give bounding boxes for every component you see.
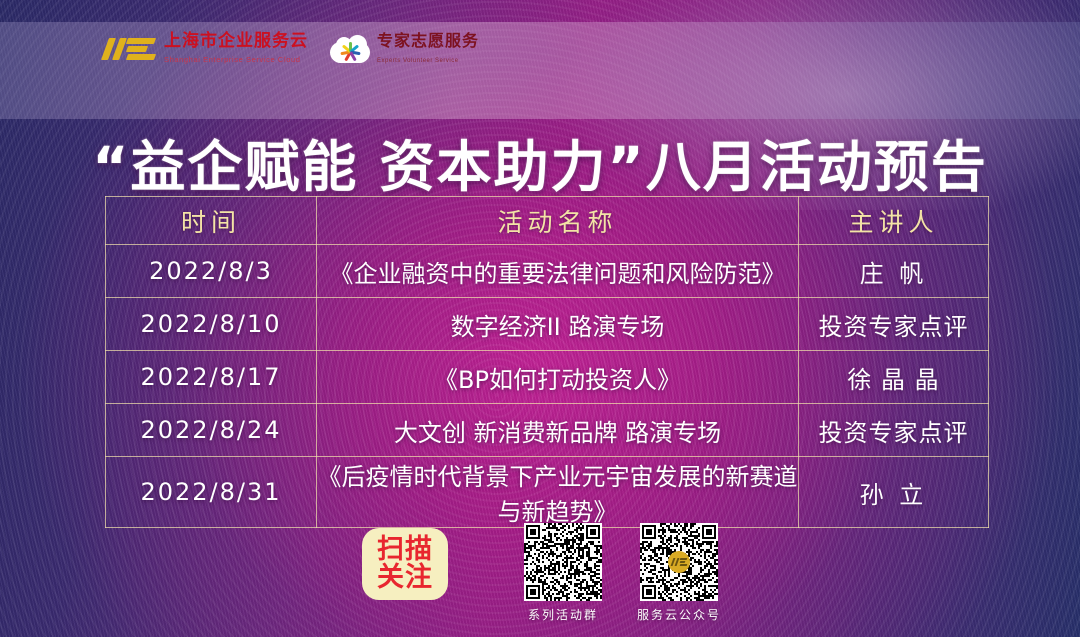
qr-code-icon[interactable] <box>524 523 602 601</box>
cell-activity-name: 《BP如何打动投资人》 <box>317 351 799 404</box>
table-row: 2022/8/17《BP如何打动投资人》徐 晶 晶 <box>106 351 989 404</box>
qrcode-label: 系列活动群 <box>521 606 605 623</box>
qrcode-block-service-cloud-account[interactable]: 服务云公众号 <box>637 523 721 623</box>
cell-date: 2022/8/31 <box>106 457 317 528</box>
cell-activity-name: 《后疫情时代背景下产业元宇宙发展的新赛道与新趋势》 <box>317 457 799 528</box>
cloud-pinwheel-mark-icon <box>330 35 370 64</box>
cell-activity-name: 《企业融资中的重要法律问题和风险防范》 <box>317 245 799 298</box>
qrcode-block-activity-group[interactable]: 系列活动群 <box>521 523 605 623</box>
column-header-activity-name: 活动名称 <box>317 197 799 245</box>
scan-badge-line1: 扫描 <box>377 536 433 564</box>
cell-date: 2022/8/24 <box>106 404 317 457</box>
table-row: 2022/8/31《后疫情时代背景下产业元宇宙发展的新赛道与新趋势》孙 立 <box>106 457 989 528</box>
schedule-table: 时间 活动名称 主讲人 2022/8/3《企业融资中的重要法律问题和风险防范》庄… <box>105 196 989 528</box>
cell-speaker: 投资专家点评 <box>799 404 989 457</box>
qrcode-label: 服务云公众号 <box>637 606 721 623</box>
cell-speaker: 庄 帆 <box>799 245 989 298</box>
cell-activity-name: 大文创 新消费新品牌 路演专场 <box>317 404 799 457</box>
qr-center-logo-icon <box>668 551 690 573</box>
table-row: 2022/8/24大文创 新消费新品牌 路演专场投资专家点评 <box>106 404 989 457</box>
column-header-time: 时间 <box>106 197 317 245</box>
table-header-row: 时间 活动名称 主讲人 <box>106 197 989 245</box>
table-row: 2022/8/3《企业融资中的重要法律问题和风险防范》庄 帆 <box>106 245 989 298</box>
cell-speaker: 徐 晶 晶 <box>799 351 989 404</box>
scan-follow-badge: 扫描 关注 <box>362 528 448 600</box>
column-header-speaker: 主讲人 <box>799 197 989 245</box>
page-title: “益企赋能 资本助力”八月活动预告 <box>0 122 1080 202</box>
qr-code-icon[interactable] <box>640 523 718 601</box>
scan-badge-line2: 关注 <box>377 564 433 592</box>
logo2-en-text: Experts Volunteer Service <box>377 58 459 64</box>
shanghai-enterprise-service-cloud-mark-icon <box>105 36 157 62</box>
table-row: 2022/8/10数字经济II 路演专场投资专家点评 <box>106 298 989 351</box>
logo-shanghai-enterprise-service-cloud: 上海市企业服务云 Shanghai Enterprise Service Clo… <box>105 33 308 66</box>
event-poster: 上海市企业服务云 Shanghai Enterprise Service Clo… <box>0 0 1080 637</box>
cell-date: 2022/8/17 <box>106 351 317 404</box>
logo-cn-text: 上海市企业服务云 <box>164 31 308 51</box>
logo-experts-volunteer-service: 专家志愿服务 Experts Volunteer Service <box>330 33 479 66</box>
logo-en-text: Shanghai Enterprise Service Cloud <box>164 55 301 64</box>
cell-date: 2022/8/10 <box>106 298 317 351</box>
cell-speaker: 孙 立 <box>799 457 989 528</box>
cell-date: 2022/8/3 <box>106 245 317 298</box>
cell-speaker: 投资专家点评 <box>799 298 989 351</box>
logo-bar: 上海市企业服务云 Shanghai Enterprise Service Clo… <box>105 27 479 71</box>
logo2-cn-text: 专家志愿服务 <box>377 31 479 50</box>
cell-activity-name: 数字经济II 路演专场 <box>317 298 799 351</box>
